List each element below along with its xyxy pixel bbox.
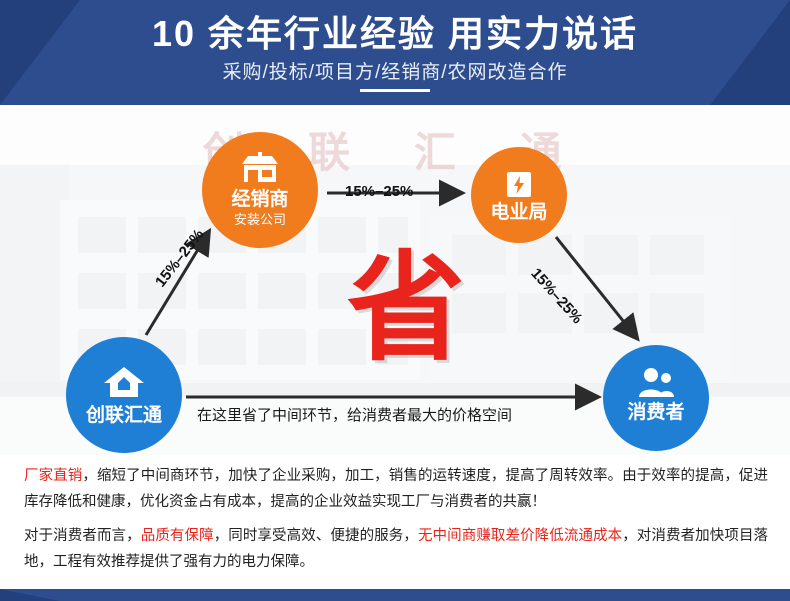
paragraph-2-text-1: 对于消费者而言， — [24, 528, 141, 544]
footer-bar — [0, 589, 790, 601]
edge-label-brand-to-consumer: 在这里省了中间环节，给消费者最大的价格空间 — [197, 404, 512, 425]
shop-icon — [240, 152, 280, 184]
description-block: 厂家直销，缩短了中间商环节，加快了企业采购，加工，销售的运转速度，提高了周转效率… — [0, 455, 790, 601]
header-title: 10 余年行业经验 用实力说话 — [0, 12, 790, 56]
node-consumer-title: 消费者 — [603, 401, 709, 424]
node-power-bureau-title: 电业局 — [471, 202, 567, 224]
node-dealer[interactable]: 经销商 安装公司 — [202, 132, 318, 248]
paragraph-2-highlight-1: 品质有保障 — [141, 528, 214, 544]
paragraph-1-highlight: 厂家直销 — [24, 468, 82, 484]
node-power-bureau[interactable]: 电业局 — [471, 147, 567, 243]
user-icon — [637, 367, 675, 397]
promo-banner: 10 余年行业经验 用实力说话 采购/投标/项目方/经销商/农网改造合作 — [0, 0, 790, 601]
paragraph-2-text-2: ，同时享受高效、便捷的服务， — [214, 528, 418, 544]
node-brand-title: 创联汇通 — [66, 404, 182, 427]
edge-label-dealer-to-power: 15%–25% — [345, 183, 413, 200]
paragraph-1-text: ，缩短了中间商环节，加快了企业采购，加工，销售的运转速度，提高了周转效率。由于效… — [24, 468, 768, 510]
header-bar: 10 余年行业经验 用实力说话 采购/投标/项目方/经销商/农网改造合作 — [0, 0, 790, 105]
paragraph-1: 厂家直销，缩短了中间商环节，加快了企业采购，加工，销售的运转速度，提高了周转效率… — [24, 463, 768, 515]
header-subtitle: 采购/投标/项目方/经销商/农网改造合作 — [0, 60, 790, 86]
paragraph-2-highlight-2: 无中间商赚取差价降低流通成本 — [418, 528, 622, 544]
node-dealer-subtitle: 安装公司 — [202, 211, 318, 228]
paragraph-2: 对于消费者而言，品质有保障，同时享受高效、便捷的服务，无中间商赚取差价降低流通成… — [24, 523, 768, 575]
home-icon — [103, 365, 145, 399]
node-consumer[interactable]: 消费者 — [603, 345, 709, 451]
center-save-character: 省 — [316, 243, 496, 373]
header-underline — [360, 89, 430, 92]
power-building-icon — [503, 167, 535, 199]
flow-diagram: 创 联 汇 通 省 — [0, 105, 790, 455]
node-dealer-title: 经销商 — [202, 188, 318, 211]
node-brand[interactable]: 创联汇通 — [66, 337, 182, 453]
footer-bevel — [0, 589, 60, 601]
